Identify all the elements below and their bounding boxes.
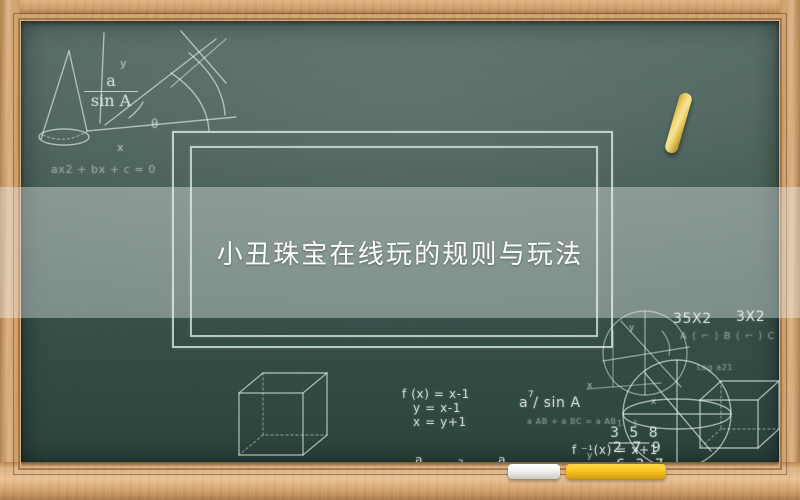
chalk-vector-row: A ⟨ ⌐ ⟩ B ⟨ ⌐ ⟩ C ⟨ ⌐ ⟩ [680, 331, 779, 342]
white-chalk-piece-icon [508, 464, 560, 479]
chalk-right-axis-y-label: y [629, 323, 635, 333]
chalk-law-of-sines-top: a / sin A a sin A [84, 73, 138, 110]
chalk-angle-theta-label: θ [151, 117, 159, 131]
cube-left [239, 373, 327, 455]
chalk-function-line-2: y = x-1 [413, 401, 461, 415]
cone-left-edge [41, 51, 69, 139]
chalk-law-of-sines-lower-left: a sin A [395, 454, 443, 462]
cone-base-ellipse [39, 129, 89, 145]
right-axis-x [587, 383, 661, 389]
chalk-law-of-sines-lower-center: a sin A [478, 454, 526, 462]
chalk-small-equation: a AB + a BC = a AB [527, 417, 617, 426]
cross-ray-1 [181, 31, 226, 83]
chalk-right-label-y: y [587, 451, 593, 461]
chalk-quadratic-equation: ax2 + bx + c = 0 [51, 163, 156, 176]
chalk-log-a21: Log a21 [697, 363, 733, 372]
chalk-axis-x-label: x [117, 141, 124, 154]
angle-arc-inner [189, 53, 225, 115]
cone-base-dashes [43, 132, 86, 139]
chalk-addend-2: 2 7 9 [613, 440, 664, 456]
chalk-addend-1: 3 5 8 [610, 425, 661, 441]
title-overlay-band: 小丑珠宝在线玩的规则与玩法 [0, 187, 800, 318]
chalk-seven-squared-exponent: 7 [528, 390, 534, 400]
axis-x-line [87, 117, 236, 131]
chalk-function-line-3: x = y+1 [413, 415, 467, 429]
chalk-axis-y-label: y [120, 57, 127, 70]
page-title: 小丑珠宝在线玩的规则与玩法 [217, 234, 584, 271]
chalkboard-banner: a / sin A a sin A ax2 + bx + c = 0 x y θ… [0, 0, 800, 500]
chalk-function-line-1: f (x) = x-1 [402, 387, 470, 401]
yellow-chalk-piece-icon [566, 464, 666, 479]
chalk-right-axis-x-label: x [587, 381, 593, 391]
cross-ray-2 [171, 39, 226, 87]
chalk-right-label-x: x [651, 397, 657, 407]
